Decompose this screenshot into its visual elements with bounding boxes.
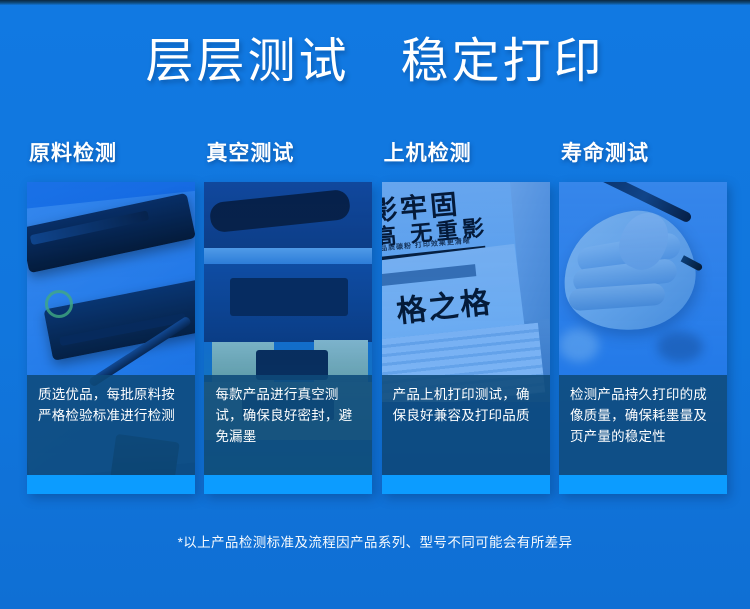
column-heading: 原料检测	[27, 143, 195, 164]
feature-column-machine-test: 上机检测 影牢固 高 无重影 高品质碳粉 打印效果更清晰 格之格	[382, 143, 550, 503]
card-caption: 检测产品持久打印的成像质量，确保耗墨量及页产量的稳定性	[559, 375, 727, 475]
feature-card: 检测产品持久打印的成像质量，确保耗墨量及页产量的稳定性	[559, 182, 727, 494]
card-accent-bar	[382, 475, 550, 494]
column-heading: 真空测试	[204, 143, 372, 164]
card-accent-bar	[204, 475, 372, 494]
card-accent-bar	[559, 475, 727, 494]
card-caption: 产品上机打印测试，确保良好兼容及打印品质	[382, 375, 550, 475]
page-title: 层层测试 稳定打印	[0, 38, 750, 86]
top-edge-strip	[0, 0, 750, 5]
footnote-disclaimer: *以上产品检测标准及流程因产品系列、型号不同可能会有所差异	[0, 531, 750, 551]
column-heading: 寿命测试	[559, 143, 727, 164]
card-caption: 每款产品进行真空测试，确保良好密封，避免漏墨	[204, 375, 372, 475]
feature-card: 影牢固 高 无重影 高品质碳粉 打印效果更清晰 格之格 代代代 产品上机打印测试…	[382, 182, 550, 494]
promo-banner: 层层测试 稳定打印 原料检测 质选优品，每批原料按严格检验标准进行	[0, 0, 750, 609]
feature-column-vacuum-test: 真空测试	[204, 143, 372, 503]
feature-card: 每款产品进行真空测试，确保良好密封，避免漏墨	[204, 182, 372, 494]
feature-column-lifespan-test: 寿命测试	[559, 143, 727, 503]
card-caption: 质选优品，每批原料按严格检验标准进行检测	[27, 375, 195, 475]
feature-columns: 原料检测 质选优品，每批原料按严格检验标准进行检测	[27, 143, 727, 503]
card-accent-bar	[27, 475, 195, 494]
feature-column-raw-material: 原料检测 质选优品，每批原料按严格检验标准进行检测	[27, 143, 195, 503]
feature-card: 质选优品，每批原料按严格检验标准进行检测	[27, 182, 195, 494]
column-heading: 上机检测	[382, 143, 550, 164]
